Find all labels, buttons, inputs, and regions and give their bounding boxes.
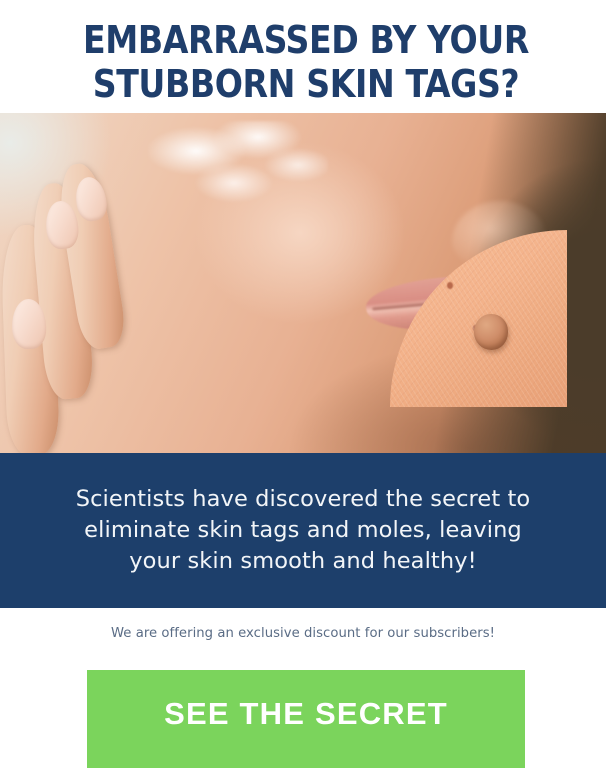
see-the-secret-button[interactable]: SEE THE SECRET: [87, 670, 525, 768]
subscriber-discount-note: We are offering an exclusive discount fo…: [0, 626, 606, 641]
headline-line-1: EMBARRASSED BY YOUR: [34, 18, 577, 62]
headline-line-2: STUBBORN SKIN TAGS?: [34, 62, 577, 106]
advertisement-container: EMBARRASSED BY YOUR STUBBORN SKIN TAGS? …: [0, 0, 612, 766]
small-skin-spot: [447, 282, 453, 289]
hero-image: [0, 113, 606, 453]
statement-text: Scientists have discovered the secret to…: [58, 484, 548, 576]
skin-tag-inset-image: [390, 230, 567, 407]
hand-applying-cream: [0, 165, 180, 453]
page-title: EMBARRASSED BY YOUR STUBBORN SKIN TAGS?: [26, 18, 586, 106]
mole-icon: [474, 314, 508, 350]
statement-banner: Scientists have discovered the secret to…: [0, 453, 606, 608]
